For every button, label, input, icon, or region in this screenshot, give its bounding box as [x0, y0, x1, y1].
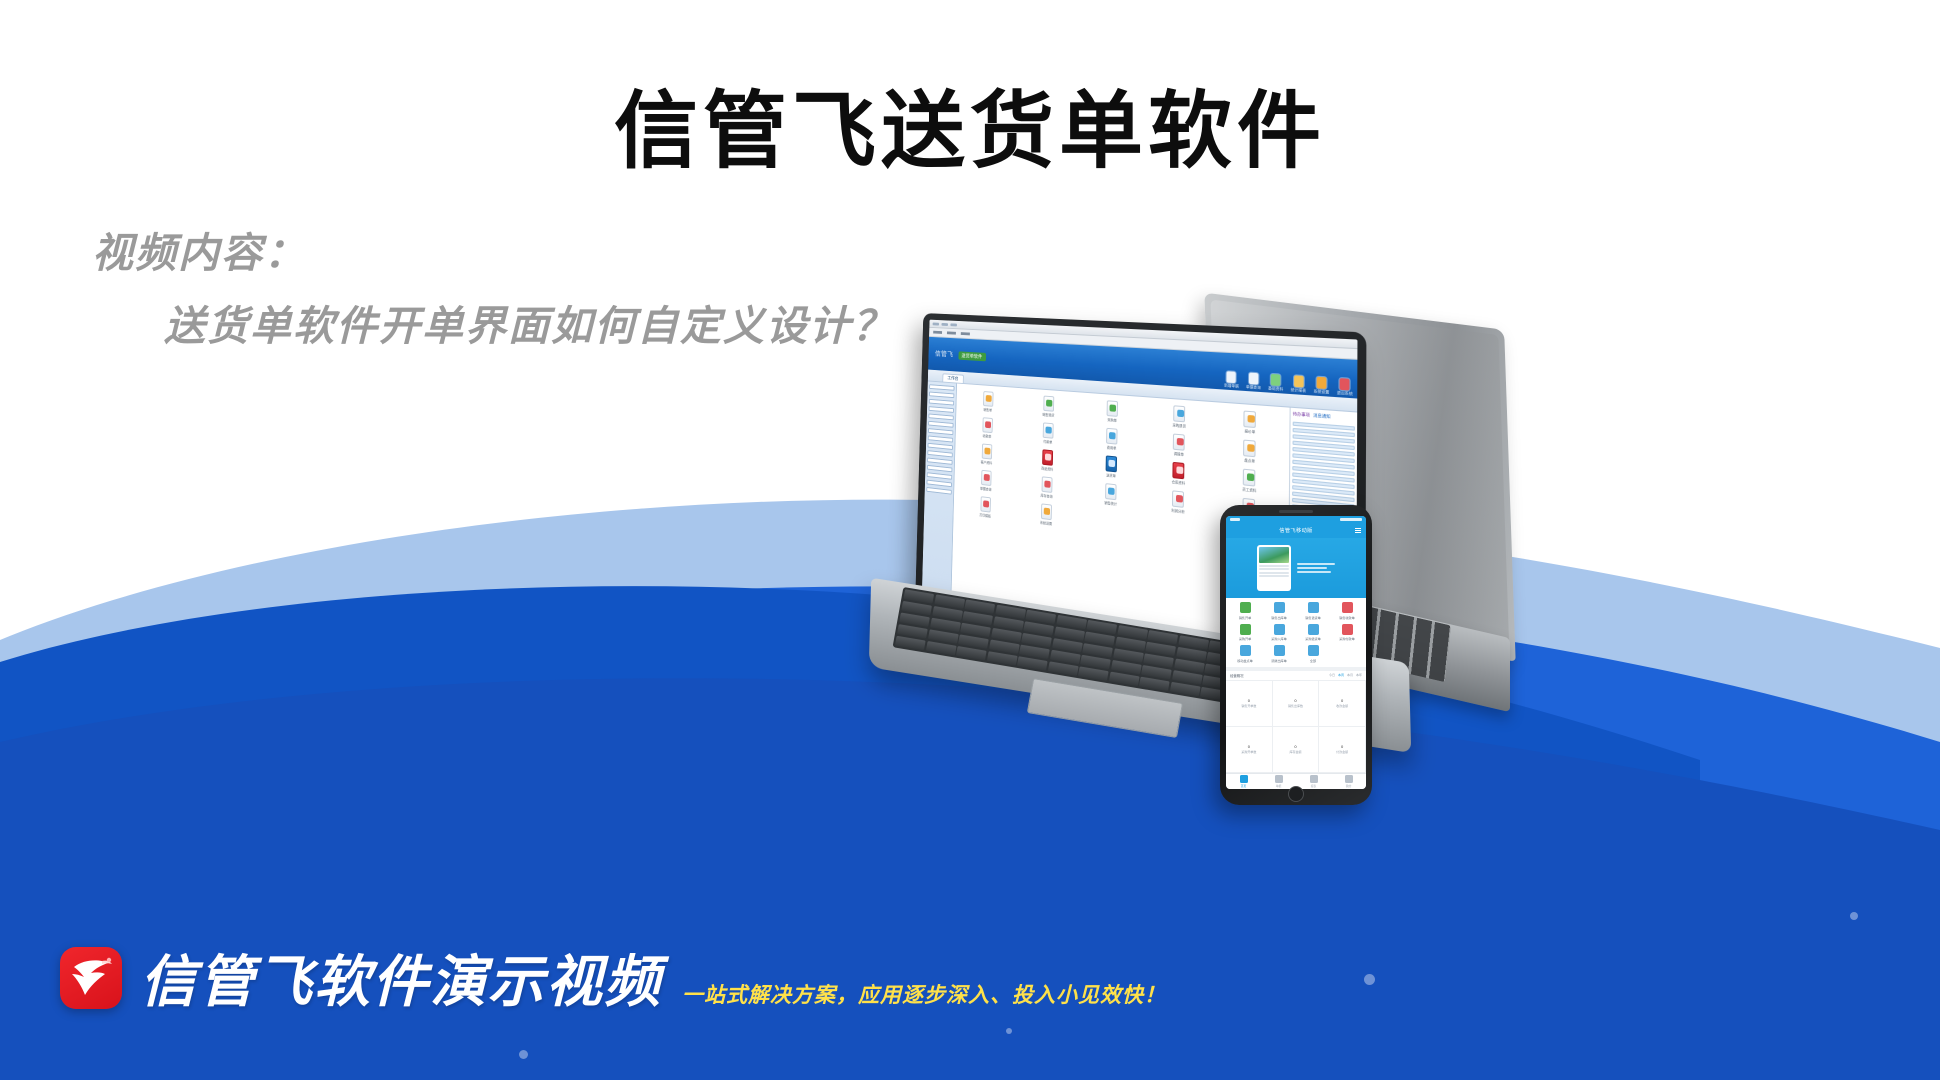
tab-reports[interactable]: 报表: [1296, 774, 1331, 789]
mobile-grid-item[interactable]: 采购退货单: [1296, 624, 1330, 642]
sidebar-item[interactable]: [929, 384, 954, 390]
module-label: 单据查询: [980, 486, 992, 492]
module-icon: [1173, 434, 1185, 451]
grid-label: 采购入库单: [1271, 636, 1286, 641]
exit-icon: [1340, 378, 1350, 390]
module-tile[interactable]: 商品资料: [1018, 447, 1078, 474]
chart-icon: [1310, 775, 1318, 783]
stat-value: 0: [1248, 744, 1250, 749]
toolbar-label: 基础资料: [1268, 386, 1283, 392]
decor-dot: [1850, 912, 1858, 920]
stat-cell: 0销售开单数: [1226, 681, 1273, 727]
sales-outbound-icon: [1274, 602, 1285, 613]
module-tile[interactable]: 库存查询: [1017, 474, 1077, 502]
stat-label: 库存金额: [1289, 750, 1301, 754]
module-label: 销售统计: [1104, 500, 1117, 506]
grid-label: 移动盘点单: [1237, 658, 1252, 663]
module-label: 商品资料: [1041, 466, 1053, 472]
module-label: 销售退货: [1042, 412, 1054, 418]
transfer-out-icon: [1274, 645, 1285, 656]
module-icon: [1043, 396, 1054, 412]
toolbar-label: 系统设置: [1314, 389, 1330, 395]
toolbar-label: 退出系统: [1337, 391, 1353, 397]
brand-tagline: 一站式解决方案，应用逐步深入、投入小见效快！: [682, 979, 1166, 1018]
mobile-function-grid: 销售开单 销售出库单 销售退货单 销售收款单 采购开单 采购入库单 采购退货单 …: [1226, 598, 1366, 667]
subtitle-topic: 送货单软件开单界面如何自定义设计？: [164, 301, 895, 352]
grid-label: 采购开单: [1239, 636, 1251, 641]
module-tile[interactable]: 员工资料: [1215, 466, 1285, 496]
sidebar-item[interactable]: [928, 421, 953, 428]
mobile-grid-item[interactable]: 采购开单: [1228, 624, 1262, 642]
stat-label: 收款金额: [1336, 704, 1348, 708]
sidebar-item[interactable]: [927, 465, 952, 472]
decor-dot: [519, 1050, 528, 1059]
purchase-return-icon: [1308, 624, 1319, 635]
mobile-nav-bar: 信管飞移动版: [1226, 523, 1366, 538]
chart-icon: [1294, 375, 1304, 387]
brand-name: 信管飞软件演示视频: [140, 937, 662, 1018]
sidebar-item[interactable]: [927, 458, 952, 465]
mobile-grid-item[interactable]: 调拨出库单: [1262, 645, 1296, 663]
mobile-status-bar: [1226, 516, 1366, 523]
module-icon: [1041, 503, 1052, 520]
home-icon: [1240, 775, 1248, 783]
module-tile[interactable]: 收款单: [959, 415, 1016, 441]
module-tile[interactable]: 付款单: [1018, 420, 1078, 447]
module-label: 费用单: [1107, 445, 1117, 451]
all-apps-icon: [1308, 645, 1319, 656]
mobile-grid-item[interactable]: 采购付款单: [1330, 624, 1364, 642]
toolbar-button[interactable]: 新增单据: [1224, 371, 1239, 389]
tab-profile[interactable]: 我的: [1331, 774, 1366, 789]
module-icon: [1244, 411, 1257, 429]
module-icon: [1105, 483, 1116, 500]
module-icon: [1172, 490, 1184, 508]
module-tile[interactable]: 利润分析: [1145, 487, 1212, 517]
module-icon: [980, 496, 991, 512]
decor-dot: [1364, 974, 1375, 985]
stat-cell: 0库存金额: [1273, 727, 1320, 773]
module-icon: [1173, 405, 1185, 422]
module-label: 调拨单: [1174, 451, 1184, 457]
module-tile[interactable]: 采购退货: [1147, 403, 1213, 430]
stat-value: 0: [1294, 744, 1296, 749]
sidebar-item[interactable]: [926, 487, 951, 495]
tab-label: 报表: [1311, 784, 1317, 788]
decor-dot: [1006, 1028, 1012, 1034]
module-icon: [1173, 462, 1185, 479]
stat-label: 销售开单数: [1241, 704, 1256, 708]
module-icon: [982, 417, 992, 433]
grid-label: 调拨出库单: [1271, 658, 1286, 663]
module-label: 打印模板: [979, 512, 991, 518]
toolbar-button[interactable]: 统计报表: [1291, 375, 1307, 394]
sidebar-item[interactable]: [928, 414, 953, 421]
mobile-grid-item[interactable]: 销售收款单: [1330, 602, 1364, 620]
module-tile[interactable]: 费用单: [1081, 426, 1144, 453]
module-label: 员工资料: [1242, 486, 1256, 493]
module-icon: [1041, 476, 1052, 493]
range-tab[interactable]: 本月: [1347, 673, 1353, 677]
mobile-grid-item[interactable]: 采购入库单: [1262, 624, 1296, 642]
document-icon: [1275, 775, 1283, 783]
sales-return-icon: [1308, 602, 1319, 613]
footer-branding: 信管飞软件演示视频 一站式解决方案，应用逐步深入、投入小见效快！: [60, 937, 1166, 1018]
grid-label: 销售收款单: [1339, 615, 1354, 620]
hero-text-lines: [1297, 563, 1335, 573]
mobile-grid-item[interactable]: 全部: [1296, 645, 1330, 663]
sidebar-item[interactable]: [928, 435, 953, 442]
grid-label: 销售开单: [1239, 615, 1251, 620]
app-brand-label: 信管飞: [935, 349, 953, 359]
grid-label: 采购退货单: [1305, 636, 1320, 641]
range-tab[interactable]: 本年: [1356, 673, 1362, 677]
module-tile[interactable]: 打印模板: [957, 493, 1014, 521]
range-tab[interactable]: 今日: [1329, 673, 1335, 677]
sidebar-item[interactable]: [927, 480, 952, 488]
stat-value: 0: [1341, 698, 1343, 703]
stat-cell: 0付款金额: [1319, 727, 1366, 773]
tab-home[interactable]: 首页: [1226, 774, 1261, 789]
sidebar-item[interactable]: [929, 399, 954, 406]
purchase-inbound-icon: [1274, 624, 1285, 635]
toolbar-button[interactable]: 系统设置: [1314, 377, 1330, 396]
stat-label: 销售出库数: [1288, 704, 1303, 708]
gear-icon: [1317, 377, 1327, 389]
module-label: 仓库资料: [1172, 479, 1185, 485]
home-button[interactable]: [1288, 786, 1304, 802]
module-icon: [1106, 455, 1117, 472]
mobile-hero-banner: [1226, 538, 1366, 598]
device-mockup-cluster: 信管飞 送货单软件 新增单据 单据查询: [880, 300, 1940, 820]
module-icon: [1243, 440, 1256, 458]
module-tile[interactable]: 报价单: [1216, 408, 1286, 436]
module-tile[interactable]: 采购单: [1081, 398, 1144, 425]
right-panel-tab[interactable]: 待办事项: [1293, 411, 1310, 419]
stat-value: 0: [1294, 698, 1296, 703]
module-tile-delivery-note[interactable]: 送货单: [1080, 453, 1143, 481]
sales-order-icon: [1240, 602, 1251, 613]
right-panel-tab[interactable]: 消息通知: [1313, 413, 1330, 421]
brand-row: 信管飞软件演示视频: [60, 937, 662, 1018]
stocktake-icon: [1240, 645, 1251, 656]
xinguanfei-bird-logo-icon: [60, 947, 122, 1009]
module-label: 报价单: [1245, 428, 1256, 434]
module-label: 采购单: [1107, 417, 1117, 423]
module-icon: [1243, 469, 1256, 487]
tab-label: 首页: [1241, 784, 1247, 788]
module-tile[interactable]: 单据查询: [958, 467, 1015, 494]
sales-receipt-icon: [1342, 602, 1353, 613]
module-tile[interactable]: 调拨单: [1146, 431, 1212, 459]
mobile-grid-item[interactable]: 销售开单: [1228, 602, 1262, 620]
sidebar-item[interactable]: [927, 472, 952, 479]
module-label: 付款单: [1043, 439, 1052, 445]
module-label: 收款单: [983, 433, 992, 438]
module-label: 盘点单: [1244, 457, 1255, 463]
mobile-grid-item[interactable]: 移动盘点单: [1228, 645, 1262, 663]
hamburger-menu-icon[interactable]: [1355, 528, 1361, 533]
slide-canvas: 信管飞送货单软件 视频内容： 送货单软件开单界面如何自定义设计？ 信管飞: [0, 0, 1940, 1080]
grid-label: 采购付款单: [1339, 636, 1354, 641]
stat-label: 付款金额: [1336, 750, 1348, 754]
toolbar-button[interactable]: 基础资料: [1268, 374, 1283, 393]
stat-cell: 0采购开单数: [1226, 727, 1273, 773]
toolbar-label: 新增单据: [1224, 383, 1239, 389]
overview-range-tabs: 今日 本周 本月 本年: [1329, 673, 1362, 677]
new-document-icon: [1227, 371, 1236, 383]
module-tile[interactable]: 仓库资料: [1146, 459, 1212, 488]
grid-label: 销售退货单: [1305, 615, 1320, 620]
module-label: 客户资料: [981, 459, 993, 465]
toolbar-button[interactable]: 退出系统: [1337, 378, 1353, 397]
mobile-app-screen: 信管飞移动版 销售开单 销售出库单 销售退货单 销售收款单 采购开单 采购入库单: [1226, 516, 1366, 789]
user-icon: [1345, 775, 1353, 783]
module-icon: [981, 470, 992, 486]
toolbar-label: 统计报表: [1291, 388, 1306, 394]
mobile-stats-grid: 0销售开单数 0销售出库数 0收款金额 0采购开单数 0库存金额 0付款金额: [1226, 680, 1366, 774]
mobile-app-title: 信管飞移动版: [1279, 527, 1313, 534]
module-icon: [1043, 422, 1054, 438]
stat-value: 0: [1341, 744, 1343, 749]
sidebar-item[interactable]: [929, 392, 954, 399]
overview-label: 经营概况: [1230, 673, 1244, 678]
purchase-payment-icon: [1342, 624, 1353, 635]
module-tile[interactable]: 销售退货: [1019, 394, 1079, 420]
subtitle-label: 视频内容：: [92, 228, 895, 279]
module-label: 送货单: [1106, 472, 1116, 478]
module-tile[interactable]: 盘点单: [1215, 437, 1285, 466]
sidebar-item[interactable]: [928, 428, 953, 435]
right-panel-tabs: 待办事项 消息通知: [1293, 411, 1355, 422]
stat-label: 采购开单数: [1241, 750, 1256, 754]
module-icon: [1106, 428, 1117, 445]
module-icon: [1107, 400, 1118, 417]
stat-value: 0: [1248, 698, 1250, 703]
sidebar-item[interactable]: [929, 406, 954, 413]
range-tab-active[interactable]: 本周: [1338, 673, 1344, 677]
app-tab-workbench[interactable]: 工作台: [942, 373, 963, 383]
module-tile[interactable]: 系统设置: [1016, 500, 1076, 529]
module-label: 系统设置: [1040, 520, 1052, 526]
module-label: 采购退货: [1173, 422, 1186, 428]
module-icon: [981, 443, 992, 459]
module-tile[interactable]: 客户资料: [958, 441, 1015, 467]
module-icon: [1042, 449, 1053, 466]
grid-label: 全部: [1310, 658, 1316, 663]
purchase-order-icon: [1240, 624, 1251, 635]
grid-label: 销售出库单: [1271, 615, 1286, 620]
module-tile[interactable]: 销售统计: [1080, 480, 1143, 509]
module-label: 利润分析: [1171, 508, 1184, 515]
open-laptop: 信管飞 送货单软件 新增单据 单据查询: [880, 320, 1520, 800]
stat-cell: 0销售出库数: [1273, 681, 1320, 727]
toolbar-label: 单据查询: [1246, 385, 1261, 391]
sidebar-item[interactable]: [928, 443, 953, 450]
tab-label: 我的: [1346, 784, 1352, 788]
subtitle-block: 视频内容： 送货单软件开单界面如何自定义设计？: [92, 228, 895, 353]
mobile-grid-item[interactable]: 销售出库单: [1262, 602, 1296, 620]
hero-phone-illustration: [1257, 545, 1291, 591]
toolbar-button[interactable]: 单据查询: [1246, 372, 1261, 391]
search-document-icon: [1249, 373, 1258, 385]
smartphone: 信管飞移动版 销售开单 销售出库单 销售退货单 销售收款单 采购开单 采购入库单: [1220, 505, 1372, 805]
sidebar-item[interactable]: [927, 450, 952, 457]
database-icon: [1271, 374, 1281, 386]
module-icon: [983, 391, 993, 407]
slide-title: 信管飞送货单软件: [0, 64, 1940, 185]
mobile-grid-item[interactable]: 销售退货单: [1296, 602, 1330, 620]
module-label: 销售单: [983, 407, 992, 412]
module-tile[interactable]: 销售单: [960, 389, 1017, 414]
mobile-overview-header: 经营概况 今日 本周 本月 本年: [1226, 667, 1366, 680]
stat-cell: 0收款金额: [1319, 681, 1366, 727]
module-label: 库存查询: [1041, 493, 1053, 499]
tab-label: 单据: [1276, 784, 1282, 788]
app-product-pill: 送货单软件: [958, 351, 986, 361]
